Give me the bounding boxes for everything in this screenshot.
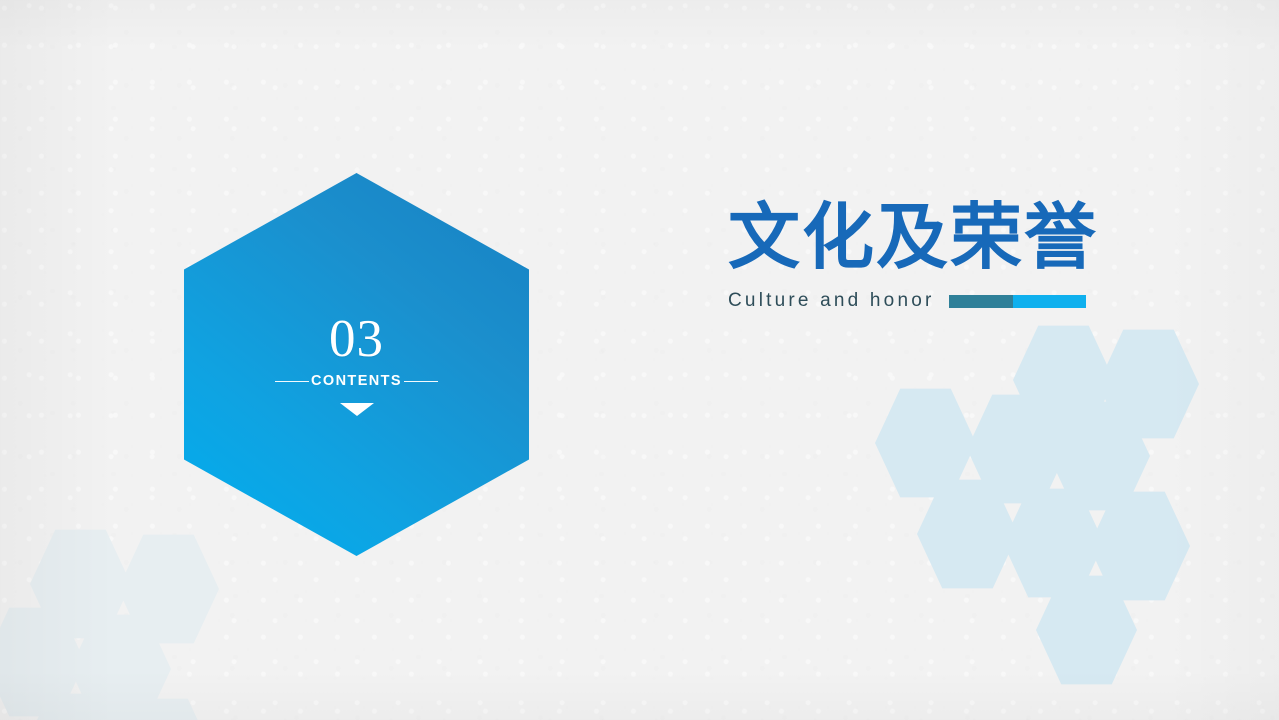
rule-left [275, 381, 309, 382]
section-hexagon[interactable]: 03 CONTENTS [184, 173, 529, 556]
accent-bar-segment-left [949, 295, 1013, 308]
presentation-slide: 03 CONTENTS 文化及荣誉 Culture and honor [0, 0, 1279, 720]
triangle-down-icon [340, 403, 374, 416]
section-label: CONTENTS [309, 373, 404, 389]
subtitle-row: Culture and honor [728, 290, 1148, 312]
section-hexagon-content: 03 CONTENTS [184, 173, 529, 556]
section-number: 03 [329, 313, 384, 366]
section-label-row: CONTENTS [184, 373, 529, 389]
rule-right [404, 381, 438, 382]
title-block: 文化及荣誉 Culture and honor [728, 202, 1148, 312]
page-title: 文化及荣誉 [728, 202, 1148, 274]
accent-bar [949, 295, 1086, 308]
page-subtitle: Culture and honor [728, 290, 935, 312]
accent-bar-segment-right [1013, 295, 1086, 308]
